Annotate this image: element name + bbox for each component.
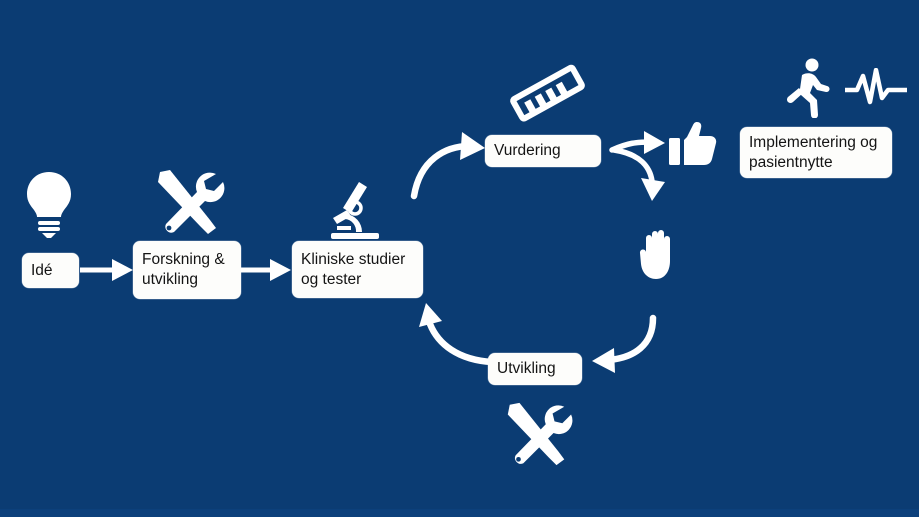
ruler-icon xyxy=(508,64,588,124)
stop-hand-icon xyxy=(638,228,680,282)
node-kliniske-studier-label: Kliniske studier og tester xyxy=(301,250,405,290)
arrow-utvikling-to-vurdering xyxy=(419,303,492,362)
node-forskning-utvikling[interactable]: Forskning & utvikling xyxy=(133,241,241,299)
node-utvikling-label: Utvikling xyxy=(497,359,556,379)
lightbulb-icon xyxy=(20,168,78,238)
node-implementering-pasientnytte-label: Implementering og pasientnytte xyxy=(749,133,877,173)
node-vurdering-label: Vurdering xyxy=(494,141,561,161)
node-ide[interactable]: Idé xyxy=(22,253,79,288)
arrow-ide-to-forskning xyxy=(80,259,133,281)
tools-icon xyxy=(150,168,226,236)
running-person-icon xyxy=(782,58,832,118)
heartbeat-icon xyxy=(845,68,907,110)
node-vurdering[interactable]: Vurdering xyxy=(485,135,601,167)
node-utvikling[interactable]: Utvikling xyxy=(488,353,582,385)
bottom-strip xyxy=(0,509,919,517)
microscope-icon xyxy=(325,180,387,242)
tools-icon-utvikling xyxy=(500,400,574,468)
thumbs-up-icon xyxy=(668,122,722,170)
node-implementering-pasientnytte[interactable]: Implementering og pasientnytte xyxy=(740,127,892,178)
arrow-stophand-to-utvikling xyxy=(592,318,653,373)
arrow-vurdering-approve xyxy=(612,131,665,154)
arrow-kliniske-to-vurdering xyxy=(414,132,485,196)
node-kliniske-studier[interactable]: Kliniske studier og tester xyxy=(292,241,423,298)
arrow-vurdering-reject xyxy=(614,150,665,201)
node-ide-label: Idé xyxy=(31,261,53,281)
arrow-forskning-to-kliniske xyxy=(241,259,291,281)
node-forskning-utvikling-label: Forskning & utvikling xyxy=(142,250,225,290)
diagram-canvas: Idé Forskning & utvikling Kliniske studi… xyxy=(0,0,919,517)
